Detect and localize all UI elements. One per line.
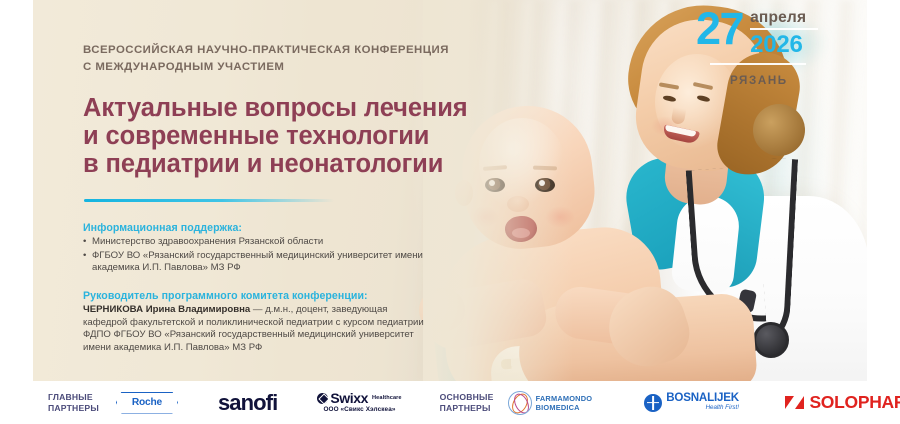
logo-solopharm[interactable]: SOLOPHARM bbox=[739, 381, 900, 424]
event-day: 27 bbox=[696, 6, 743, 52]
swixx-top-row: Swixx Healthcare bbox=[317, 391, 401, 405]
logo-bosnalijek[interactable]: BOSNALIJEK Health First! bbox=[592, 381, 739, 424]
solopharm-logo-group: SOLOPHARM bbox=[785, 392, 900, 413]
sponsor-footer: ГЛАВНЫЕ ПАРТНЕРЫ Roche sanofi Swixx Heal… bbox=[0, 381, 900, 424]
event-year: 2026 bbox=[750, 32, 818, 57]
conference-title: Актуальные вопросы лечения и современные… bbox=[83, 94, 503, 178]
stethoscope-chestpiece bbox=[753, 322, 789, 358]
date-rule-bottom bbox=[710, 63, 806, 65]
farmamondo-text: FARMAMONDO BIOMEDICA bbox=[536, 394, 593, 412]
solopharm-triangles-icon bbox=[785, 396, 805, 409]
event-month: апреля bbox=[750, 9, 818, 26]
swixx-legal-name: ООО «Свикс Хэлскеа» bbox=[317, 407, 401, 413]
bosnalijek-cross-icon bbox=[644, 394, 662, 412]
roche-logo-icon: Roche bbox=[116, 392, 178, 414]
date-row: 27 апреля 2026 bbox=[696, 6, 856, 57]
date-rule-top bbox=[750, 28, 818, 30]
roche-wordmark: Roche bbox=[116, 392, 178, 414]
sanofi-wordmark: sanofi bbox=[218, 390, 277, 416]
bosnalijek-logo-group: BOSNALIJEK Health First! bbox=[644, 393, 739, 413]
solopharm-triangle-right bbox=[795, 396, 804, 409]
conference-banner: ВСЕРОССИЙСКАЯ НАУЧНО-ПРАКТИЧЕСКАЯ КОНФЕР… bbox=[0, 0, 900, 424]
list-item: Министерство здравоохранения Рязанской о… bbox=[83, 236, 423, 249]
bosnalijek-wordmark: BOSNALIJEK bbox=[666, 393, 739, 403]
logo-roche[interactable]: Roche bbox=[99, 381, 178, 424]
list-item: ФГБОУ ВО «Рязанский государственный меди… bbox=[83, 250, 423, 275]
logo-swixx[interactable]: Swixx Healthcare ООО «Свикс Хэлскеа» bbox=[277, 381, 401, 424]
date-right-column: апреля 2026 bbox=[750, 6, 818, 57]
section-divider bbox=[84, 199, 334, 202]
solopharm-wordmark: SOLOPHARM bbox=[809, 392, 900, 413]
doctor-hair-bun bbox=[753, 104, 805, 156]
swixx-subtitle: Healthcare bbox=[372, 396, 402, 402]
info-support-heading: Информационная поддержка: bbox=[83, 222, 242, 234]
basic-partners-label: ОСНОВНЫЕ ПАРТНЕРЫ bbox=[440, 392, 494, 413]
info-support-list: Министерство здравоохранения Рязанской о… bbox=[83, 236, 423, 276]
event-date-block: 27 апреля 2026 РЯЗАНЬ bbox=[696, 6, 856, 87]
farmamondo-line2: BIOMEDICA bbox=[536, 403, 593, 412]
farmamondo-ribbon-icon bbox=[508, 391, 532, 415]
swixx-wordmark: Swixx bbox=[330, 391, 368, 405]
bosnalijek-tagline: Health First! bbox=[666, 403, 739, 413]
event-city: РЯЗАНЬ bbox=[730, 74, 856, 87]
logo-farmamondo[interactable]: FARMAMONDO BIOMEDICA bbox=[494, 381, 593, 424]
swixx-logo-group: Swixx Healthcare ООО «Свикс Хэлскеа» bbox=[317, 391, 401, 413]
main-partners-label: ГЛАВНЫЕ ПАРТНЕРЫ bbox=[48, 392, 99, 413]
farmamondo-logo-group: FARMAMONDO BIOMEDICA bbox=[508, 391, 593, 415]
bosnalijek-text: BOSNALIJEK Health First! bbox=[666, 393, 739, 413]
farmamondo-line1: FARMAMONDO bbox=[536, 394, 593, 403]
conference-kicker: ВСЕРОССИЙСКАЯ НАУЧНО-ПРАКТИЧЕСКАЯ КОНФЕР… bbox=[83, 42, 523, 75]
banner-content: ВСЕРОССИЙСКАЯ НАУЧНО-ПРАКТИЧЕСКАЯ КОНФЕР… bbox=[83, 0, 513, 381]
swixx-diamond-icon bbox=[317, 393, 328, 404]
program-chair-body: ЧЕРНИКОВА Ирина Владимировна — д.м.н., д… bbox=[83, 304, 428, 355]
logo-sanofi[interactable]: sanofi bbox=[178, 381, 277, 424]
program-chair-heading: Руководитель программного комитета конфе… bbox=[83, 290, 368, 302]
program-chair-name: ЧЕРНИКОВА Ирина Владимировна bbox=[83, 304, 250, 315]
solopharm-triangle-left bbox=[785, 396, 794, 409]
